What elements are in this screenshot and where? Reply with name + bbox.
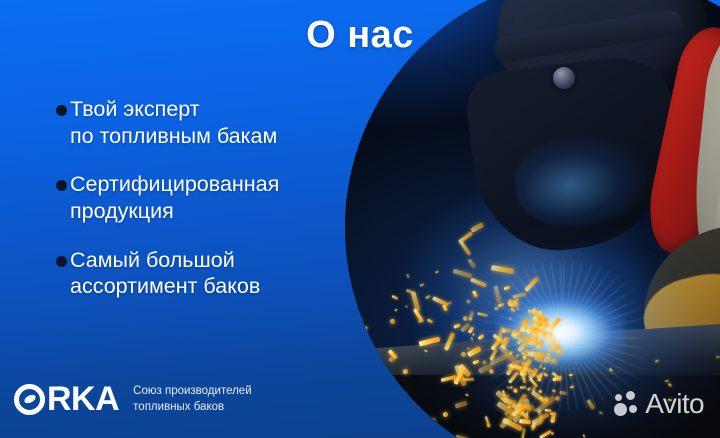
list-item-label: Сертифицированная продукция — [70, 171, 279, 224]
list-item: Твой эксперт по топливным бакам — [56, 96, 396, 149]
spark — [512, 387, 518, 393]
spark — [665, 379, 669, 381]
spark — [521, 362, 530, 365]
helmet-adjust-knob — [553, 67, 575, 89]
avito-dot-tiny — [629, 405, 637, 413]
logo-o-ring-icon — [14, 384, 45, 415]
spark — [467, 299, 471, 303]
spark — [539, 364, 542, 369]
list-item-label: Самый большой ассортимент баков — [70, 247, 260, 300]
spark — [509, 317, 512, 320]
bullet-dot-icon — [56, 180, 67, 191]
avito-wordmark: Avito — [645, 390, 704, 418]
spark — [502, 328, 512, 332]
about-us-banner: О нас Твой эксперт по топливным бакам Се… — [0, 0, 720, 438]
logo-wordmark: RKA — [14, 382, 119, 416]
bullet-dot-icon — [56, 105, 67, 116]
avito-dots-icon — [614, 391, 640, 417]
avito-dot-large — [614, 403, 627, 416]
avito-dot-small — [615, 394, 622, 401]
spark — [543, 367, 546, 370]
logo-tagline: Союз производителей топливных баков — [133, 382, 251, 416]
spark — [463, 316, 468, 321]
avito-dot-medium — [626, 391, 635, 400]
spark — [520, 386, 526, 388]
welder-photo-image — [345, 0, 720, 438]
list-item: Сертифицированная продукция — [56, 171, 396, 224]
brand-logo: RKA Союз производителей топливных баков — [14, 382, 252, 416]
spark — [443, 411, 448, 416]
avito-watermark: Avito — [614, 390, 704, 418]
list-item-label: Твой эксперт по топливным бакам — [70, 96, 277, 149]
bullet-dot-icon — [56, 256, 67, 267]
spark — [400, 393, 406, 397]
feature-list: Твой эксперт по топливным бакам Сертифиц… — [56, 96, 396, 322]
logo-wordmark-text: RKA — [47, 382, 119, 416]
list-item: Самый большой ассортимент баков — [56, 247, 396, 300]
spark — [467, 347, 469, 349]
welder-photo-circle — [345, 0, 720, 438]
